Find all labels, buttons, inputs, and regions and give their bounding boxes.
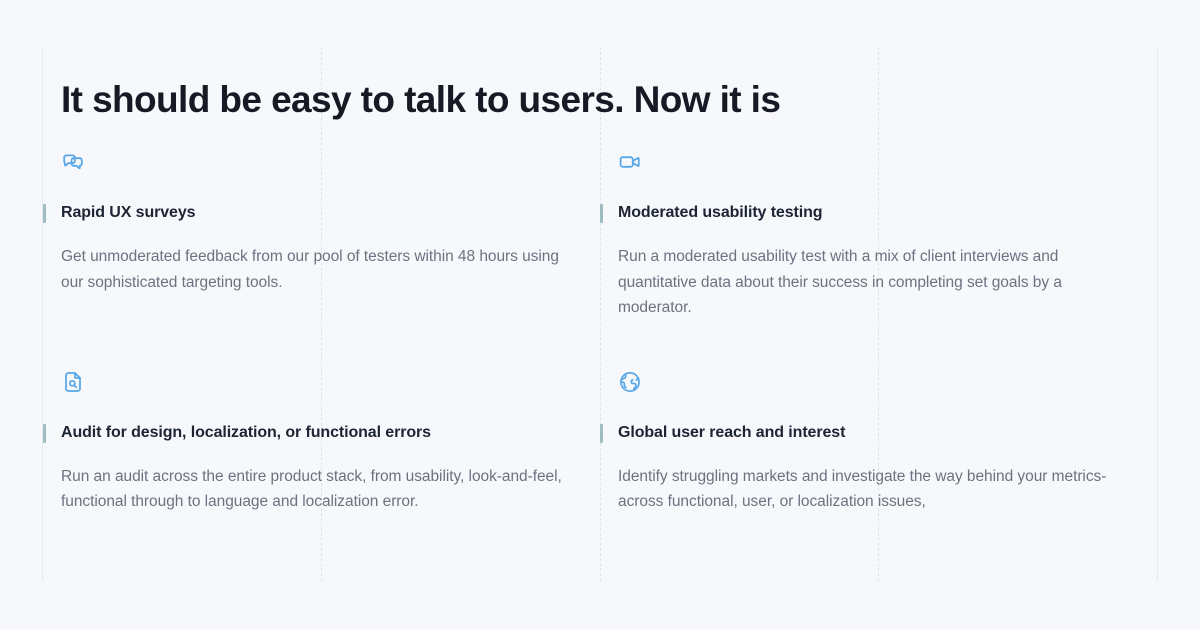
feature-description: Identify struggling markets and investig…	[618, 464, 1110, 515]
feature-card-audit-for-errors: Audit for design, localization, or funct…	[43, 370, 600, 515]
title-accent-bar	[600, 204, 603, 223]
title-accent-bar	[43, 204, 46, 223]
chat-bubbles-icon	[61, 150, 85, 174]
feature-card-moderated-usability-testing: Moderated usability testing Run a modera…	[600, 150, 1157, 321]
feature-title: Global user reach and interest	[618, 422, 845, 444]
feature-title-row: Audit for design, localization, or funct…	[61, 422, 600, 444]
feature-title: Moderated usability testing	[618, 202, 822, 224]
feature-title-row: Rapid UX surveys	[61, 202, 600, 224]
file-search-icon	[61, 370, 85, 394]
feature-title: Audit for design, localization, or funct…	[61, 422, 431, 444]
panel-border-right	[1157, 47, 1158, 581]
feature-card-global-user-reach: Global user reach and interest Identify …	[600, 370, 1157, 515]
feature-description: Run an audit across the entire product s…	[61, 464, 571, 515]
title-accent-bar	[43, 424, 46, 443]
feature-title-row: Moderated usability testing	[618, 202, 1157, 224]
globe-icon	[618, 370, 642, 394]
section-content: It should be easy to talk to users. Now …	[43, 47, 1157, 581]
section-heading: It should be easy to talk to users. Now …	[43, 47, 1157, 122]
title-accent-bar	[600, 424, 603, 443]
video-camera-icon	[618, 150, 642, 174]
feature-section: It should be easy to talk to users. Now …	[0, 0, 1200, 630]
feature-title-row: Global user reach and interest	[618, 422, 1157, 444]
feature-description: Get unmoderated feedback from our pool o…	[61, 244, 571, 295]
feature-title: Rapid UX surveys	[61, 202, 195, 224]
feature-grid: Rapid UX surveys Get unmoderated feedbac…	[43, 150, 1157, 515]
feature-description: Run a moderated usability test with a mi…	[618, 244, 1110, 321]
feature-card-rapid-ux-surveys: Rapid UX surveys Get unmoderated feedbac…	[43, 150, 600, 321]
